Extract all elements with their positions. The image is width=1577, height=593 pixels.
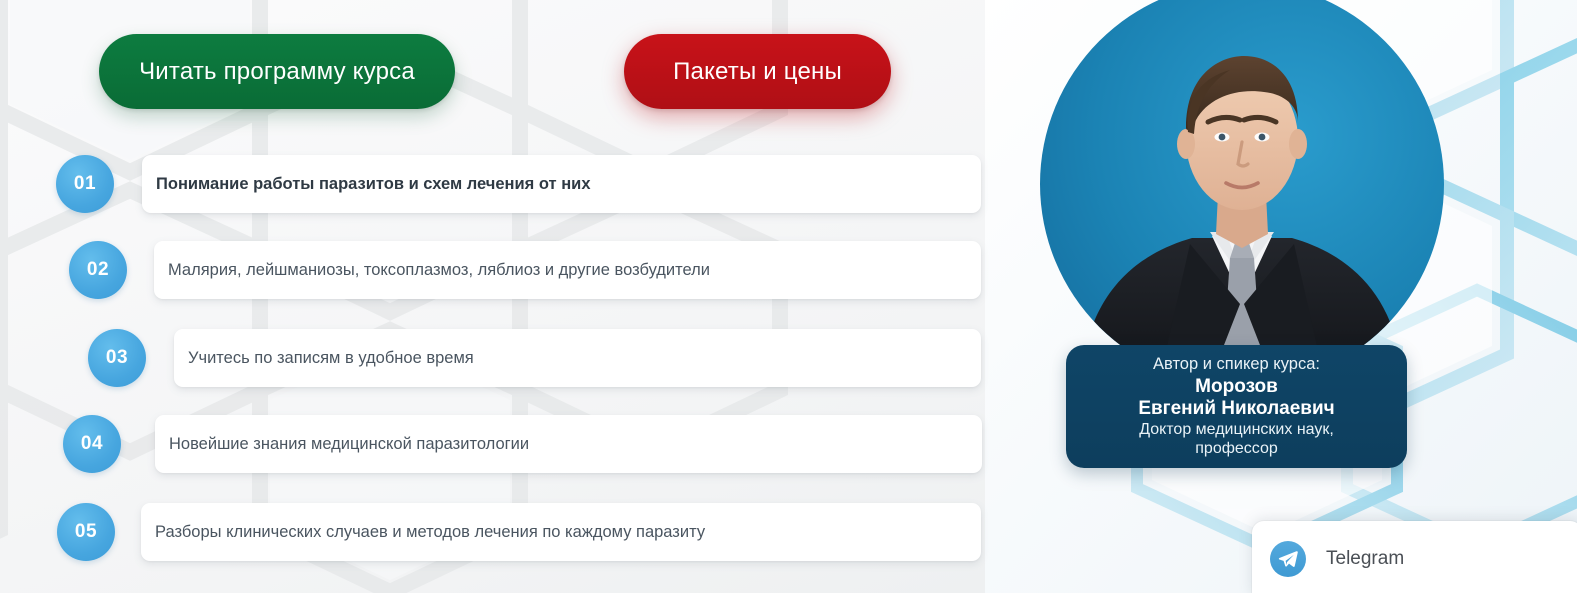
feature-card[interactable]: Новейшие знания медицинской паразитологи… (155, 415, 982, 473)
feature-label: Учитесь по записям в удобное время (174, 348, 490, 369)
feature-label: Понимание работы паразитов и схем лечени… (142, 174, 607, 195)
course-feature-list: 01 Понимание работы паразитов и схем леч… (0, 0, 985, 593)
feature-number-badge: 02 (69, 241, 127, 299)
portrait-illustration (1040, 0, 1444, 386)
feature-label: Малярия, лейшманиозы, токсоплазмоз, лябл… (154, 260, 726, 281)
telegram-paper-plane-icon (1270, 541, 1306, 577)
page-stage: Читать программу курса Пакеты и цены 01 … (0, 0, 1577, 593)
feature-card[interactable]: Разборы клинических случаев и методов ле… (141, 503, 981, 561)
speaker-title-line2: профессор (1195, 440, 1278, 458)
feature-card[interactable]: Малярия, лейшманиозы, токсоплазмоз, лябл… (154, 241, 981, 299)
telegram-chat-widget[interactable]: Telegram (1252, 521, 1577, 593)
feature-label: Разборы клинических случаев и методов ле… (141, 522, 721, 543)
speaker-title-line1: Доктор медицинских наук, (1139, 421, 1334, 439)
speaker-firstname: Евгений Николаевич (1138, 398, 1334, 420)
speaker-info-card: Автор и спикер курса: Морозов Евгений Ни… (1066, 345, 1407, 468)
feature-number-badge: 05 (57, 503, 115, 561)
feature-number-badge: 01 (56, 155, 114, 213)
speaker-surname: Морозов (1195, 376, 1278, 398)
speaker-role: Автор и спикер курса: (1153, 355, 1320, 374)
feature-card[interactable]: Учитесь по записям в удобное время (174, 329, 981, 387)
feature-number-badge: 03 (88, 329, 146, 387)
speaker-photo (1040, 0, 1444, 386)
telegram-label: Telegram (1326, 548, 1404, 570)
portrait-circle-backdrop (1040, 0, 1444, 386)
feature-label: Новейшие знания медицинской паразитологи… (155, 434, 545, 455)
feature-number-badge: 04 (63, 415, 121, 473)
feature-card[interactable]: Понимание работы паразитов и схем лечени… (142, 155, 981, 213)
